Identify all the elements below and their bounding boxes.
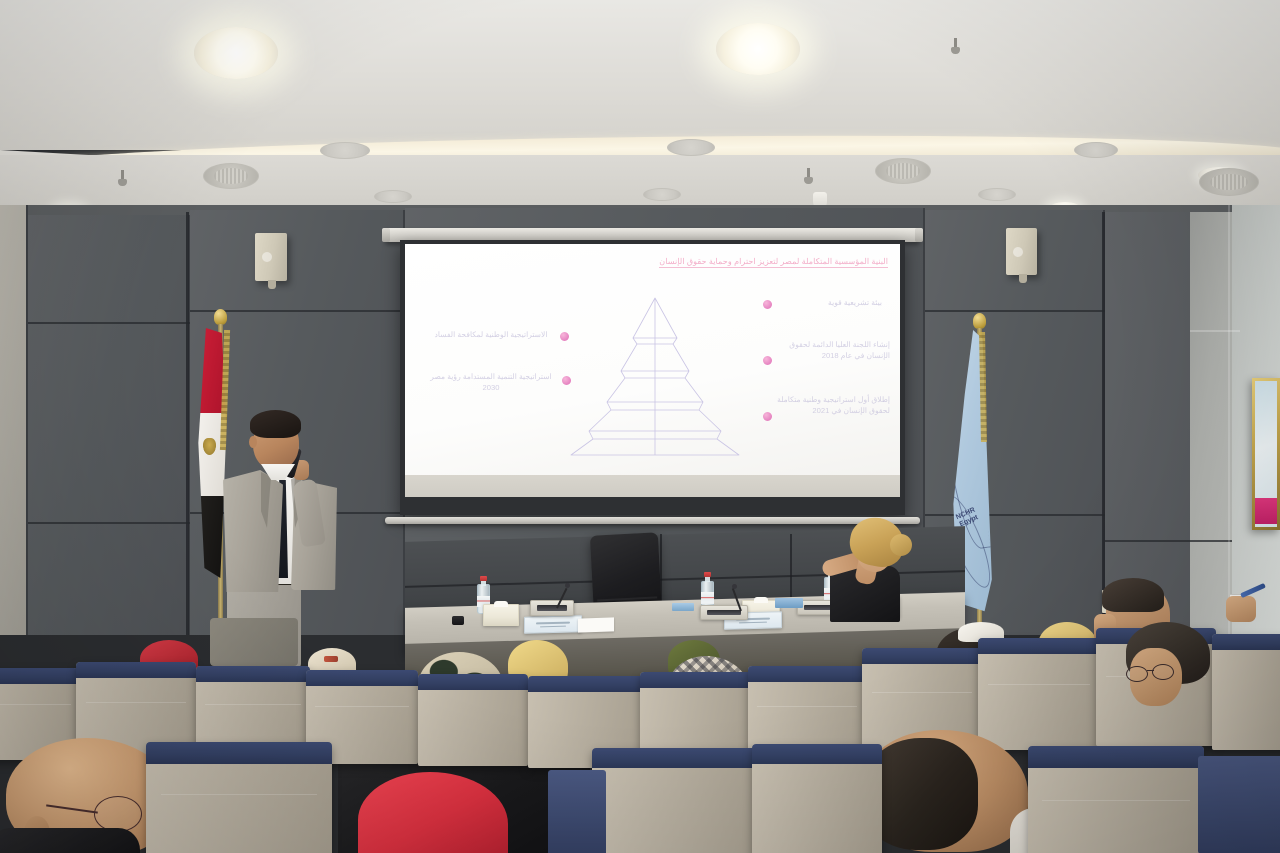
seat-detail-line — [86, 702, 187, 703]
microphone-head-icon — [565, 583, 570, 588]
red-headscarf — [358, 772, 508, 853]
flag-finial-icon — [973, 313, 986, 329]
wall-panel — [0, 205, 28, 635]
slide-right-item-1: بيئة تشريعية قوية — [778, 297, 882, 308]
audience-hand-with-pen — [1226, 596, 1256, 622]
conference-microphone-unit — [530, 600, 574, 616]
microphone-head-icon — [732, 584, 737, 589]
ceiling-vent-flat — [667, 139, 715, 156]
wall-seam — [1190, 330, 1240, 332]
eyeglasses-icon — [94, 796, 142, 832]
remote-control — [452, 616, 464, 625]
ceiling-air-vent — [203, 163, 259, 189]
seat-detail-line — [757, 706, 856, 707]
ceiling-air-vent — [1199, 168, 1259, 196]
seat-detail-line — [161, 794, 317, 795]
seat-headrest — [748, 666, 866, 682]
seat-headrest — [196, 666, 310, 682]
seat-headrest — [76, 662, 196, 678]
seat-detail-line — [1042, 800, 1190, 801]
framed-artwork — [1252, 378, 1280, 530]
audience-person — [1126, 622, 1212, 710]
slide-right-item-3: إطلاق أول استراتيجية وطنية متكاملة لحقوق… — [774, 394, 890, 416]
blue-folder — [672, 603, 694, 611]
dais-panel-seam — [790, 534, 792, 604]
seat-headrest — [306, 670, 418, 686]
wall-panel — [28, 215, 190, 635]
auditorium-seat-armrest — [1198, 756, 1280, 853]
wall-seam — [925, 514, 1105, 516]
seat-headrest — [528, 676, 644, 692]
auditorium-seat — [1212, 634, 1280, 750]
ceiling-upper — [0, 0, 1280, 150]
seat-detail-line — [205, 704, 301, 705]
standing-person-torso — [210, 618, 298, 666]
panelist-person — [806, 514, 916, 619]
auditorium-seat-foreground — [1028, 746, 1204, 853]
seat-headrest — [592, 748, 756, 768]
wall-seam — [28, 322, 190, 324]
seat-detail-line — [872, 692, 973, 693]
seat-headrest — [0, 668, 78, 684]
auditorium-seat-armrest — [548, 770, 606, 853]
wall-speaker-icon — [255, 233, 287, 281]
auditorium-seat — [418, 674, 528, 766]
seat-headrest — [146, 742, 332, 764]
wall-seam-vertical — [1102, 212, 1105, 635]
artwork-label-tag — [1255, 498, 1277, 524]
presenter-hair — [250, 410, 301, 438]
ceiling-downlight — [716, 23, 800, 75]
wall-seam — [925, 310, 1105, 312]
sprinkler-head — [950, 38, 960, 56]
ceiling-vent-flat — [643, 188, 681, 201]
wall-speaker-icon — [1006, 228, 1037, 275]
conference-hall-photo: البنية المؤسسية المتكاملة لمصر لتعزيز اح… — [0, 0, 1280, 853]
ceiling-air-vent — [875, 158, 931, 184]
wall-seam-vertical — [186, 212, 189, 635]
audience-person-foreground — [358, 772, 510, 853]
seat-headrest — [862, 648, 982, 664]
eyeglasses-bridge — [1147, 670, 1154, 671]
blue-folder — [775, 598, 803, 608]
wall-seam-vertical — [1228, 205, 1230, 635]
ceiling-vent-flat — [320, 142, 370, 159]
sprinkler-head — [803, 168, 813, 186]
screen-unlit-strip — [405, 475, 900, 497]
auditorium-seat-foreground — [592, 748, 756, 853]
cap-logo-icon — [324, 656, 338, 662]
seat-headrest — [978, 638, 1100, 654]
slide-bullet-dot — [560, 332, 569, 341]
seat-headrest — [1028, 746, 1204, 768]
slide-bullet-dot — [763, 300, 772, 309]
panelist-hair-bun — [890, 534, 912, 556]
slide-right-item-2: إنشاء اللجنة العليا الدائمة لحقوق الإنسا… — [774, 339, 890, 361]
slide-left-item-1: الاستراتيجية الوطنية لمكافحة الفساد — [429, 329, 553, 340]
tissue-box — [483, 604, 519, 626]
slide-bullet-dot — [763, 412, 772, 421]
wall-seam — [28, 522, 190, 524]
name-placard — [524, 615, 582, 634]
slide-left-item-2: استراتيجية التنمية المستدامة رؤية مصر 20… — [427, 371, 555, 393]
seat-detail-line — [988, 684, 1090, 685]
dark-hair — [1102, 578, 1164, 612]
presenter-suit-jacket — [223, 470, 283, 592]
ceiling-downlight — [194, 27, 278, 79]
paper-document — [578, 617, 614, 632]
seat-detail-line — [0, 704, 71, 705]
eyeglasses-icon — [1152, 664, 1174, 680]
ceiling-vent-flat — [374, 190, 412, 203]
seat-headrest — [752, 744, 882, 764]
projection-screen: البنية المؤسسية المتكاملة لمصر لتعزيز اح… — [400, 240, 905, 515]
flag-finial-icon — [214, 309, 227, 325]
seat-detail-line — [315, 706, 409, 707]
ceiling-vent-flat — [978, 188, 1016, 201]
seat-headrest — [1212, 634, 1280, 650]
eyeglasses-icon — [1126, 666, 1148, 682]
auditorium-seat-foreground — [146, 742, 332, 853]
seat-headrest — [418, 674, 528, 690]
slide-bullet-dot — [562, 376, 571, 385]
conference-microphone-unit — [700, 605, 748, 620]
presenter-ear — [249, 436, 257, 448]
auditorium-seat-foreground — [752, 744, 882, 853]
audience-person-foreground — [862, 730, 1032, 853]
seat-headrest — [640, 672, 752, 688]
slide-title: البنية المؤسسية المتكاملة لمصر لتعزيز اح… — [659, 256, 888, 268]
ceiling-vent-flat — [1074, 142, 1118, 158]
wall-seam — [1105, 540, 1232, 542]
pyramid-diagram — [565, 292, 745, 457]
slide-bullet-dot — [763, 356, 772, 365]
slide-surface: البنية المؤسسية المتكاملة لمصر لتعزيز اح… — [405, 244, 900, 497]
sprinkler-head — [117, 170, 127, 188]
audience-shoulder — [0, 828, 140, 853]
